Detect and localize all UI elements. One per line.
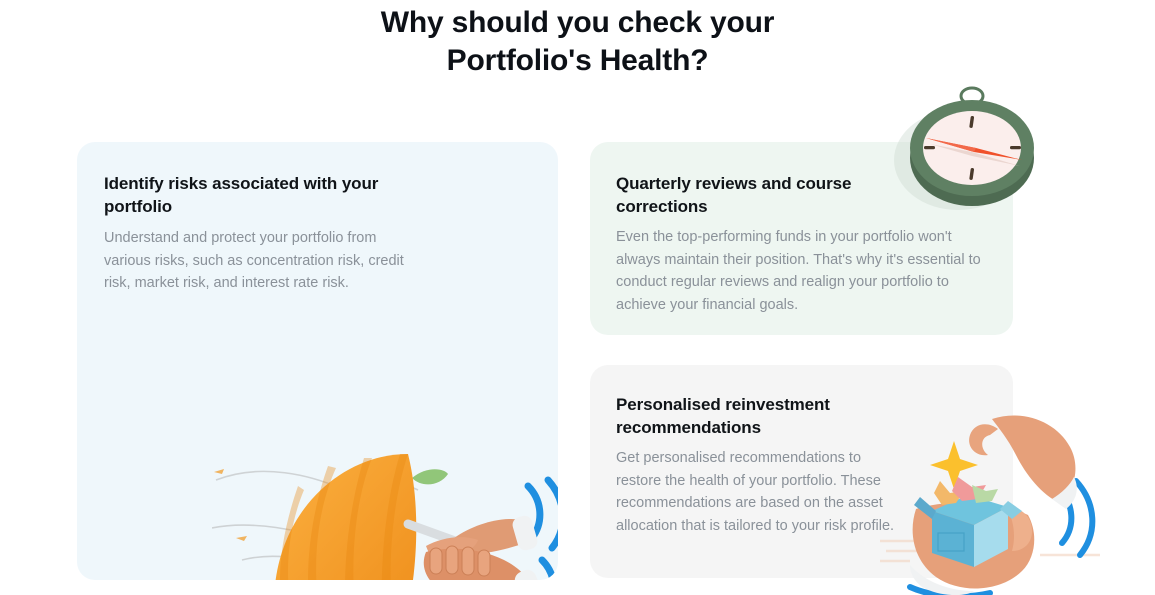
card-heading: Personalised reinvestment recommendation… <box>616 393 906 439</box>
card-body-text: Even the top-performing funds in your po… <box>616 226 991 316</box>
card-identify-risks: Identify risks associated with your port… <box>77 142 558 580</box>
card-quarterly-reviews: Quarterly reviews and course corrections… <box>590 142 1013 335</box>
page-title-line-2: Portfolio's Health? <box>0 42 1155 80</box>
card-body-text: Understand and protect your portfolio fr… <box>104 227 404 295</box>
page-title-line-1: Why should you check your <box>0 4 1155 42</box>
card-body-text: Get personalised recommendations to rest… <box>616 447 901 537</box>
card-heading: Identify risks associated with your port… <box>104 172 434 218</box>
card-personalised-reinvestment: Personalised reinvestment recommendation… <box>590 365 1013 578</box>
card-heading: Quarterly reviews and course corrections <box>616 172 906 218</box>
page-title: Why should you check your Portfolio's He… <box>0 4 1155 80</box>
portfolio-health-section: Why should you check your Portfolio's He… <box>0 0 1155 595</box>
umbrella-protecting-box-illustration <box>212 442 558 580</box>
